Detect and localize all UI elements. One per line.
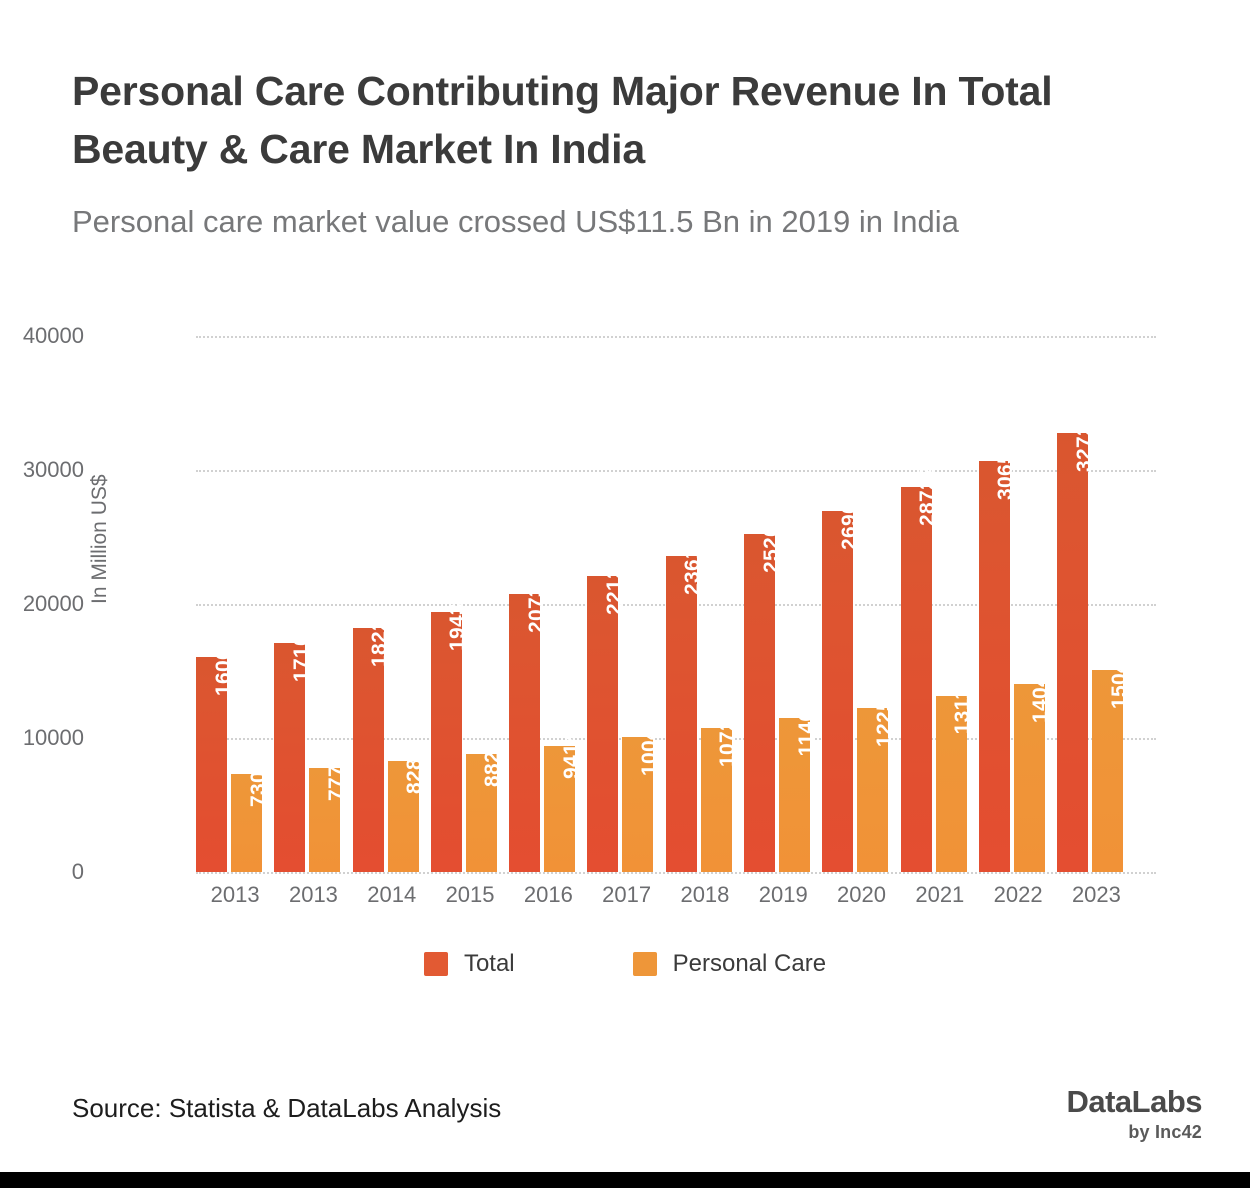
datalabs-logo: DataLabs by Inc42 xyxy=(1066,1086,1202,1141)
bar-chart: 010000200003000040000 In Million US$ 160… xyxy=(0,0,1250,1000)
brand-tagline: by Inc42 xyxy=(1066,1123,1202,1141)
bar-personal[interactable]: 12257 xyxy=(857,708,888,872)
bar-personal[interactable]: 8827 xyxy=(466,754,497,872)
y-axis-title: In Million US$ xyxy=(88,474,112,604)
chart-legend: TotalPersonal Care xyxy=(0,950,1250,978)
bar-value-label: 32728 xyxy=(1073,413,1097,473)
x-axis-tick-label: 2021 xyxy=(901,882,979,908)
bar-total[interactable]: 22127 xyxy=(587,576,618,873)
legend-item-total[interactable]: Total xyxy=(424,950,515,978)
legend-item-personal-care[interactable]: Personal Care xyxy=(633,950,826,978)
bar-value-label: 30659 xyxy=(994,440,1018,500)
bar-group: 207339414 xyxy=(509,336,587,872)
x-axis-tick-label: 2013 xyxy=(196,882,274,908)
bar-group: 2361510724 xyxy=(666,336,744,872)
bottom-accent-bar xyxy=(0,1172,1250,1188)
bar-group: 171027778 xyxy=(274,336,352,872)
y-axis-tick-label: 10000 xyxy=(0,725,84,751)
bar-value-label: 7308 xyxy=(247,759,271,807)
legend-label: Total xyxy=(464,950,515,978)
x-axis-tick-label: 2020 xyxy=(822,882,900,908)
bar-value-label: 10724 xyxy=(716,707,740,767)
brand-name: DataLabs xyxy=(1066,1086,1202,1117)
bar-total[interactable]: 16062 xyxy=(196,657,227,872)
y-axis-tick-label: 0 xyxy=(0,859,84,885)
bar-personal[interactable]: 7308 xyxy=(231,774,262,872)
x-axis-tick-label: 2022 xyxy=(979,882,1057,908)
bar-group: 3065914041 xyxy=(979,336,1057,872)
bar-value-label: 13114 xyxy=(951,676,975,735)
bar-value-label: 26907 xyxy=(838,491,862,551)
bar-total[interactable]: 32728 xyxy=(1057,433,1088,872)
gridline xyxy=(196,872,1156,874)
bar-group: 160627308 xyxy=(196,336,274,872)
bar-value-label: 11463 xyxy=(795,698,819,757)
bar-personal[interactable]: 7778 xyxy=(309,768,340,872)
y-axis-tick-label: 40000 xyxy=(0,323,84,349)
bar-value-label: 22127 xyxy=(603,555,627,615)
bar-value-label: 10046 xyxy=(638,716,662,776)
x-axis-tick-label: 2023 xyxy=(1057,882,1135,908)
bar-total[interactable]: 30659 xyxy=(979,461,1010,872)
bar-personal[interactable]: 15042 xyxy=(1092,670,1123,872)
x-axis-tick-label: 2013 xyxy=(274,882,352,908)
bar-total[interactable]: 17102 xyxy=(274,643,305,872)
bar-value-label: 20733 xyxy=(525,573,549,633)
infographic-page: Personal Care Contributing Major Revenue… xyxy=(0,0,1250,1188)
x-axis-tick-label: 2017 xyxy=(587,882,665,908)
bar-total[interactable]: 23615 xyxy=(666,556,697,872)
x-axis-tick-label: 2014 xyxy=(353,882,431,908)
bar-value-label: 8283 xyxy=(403,746,427,794)
bar-personal[interactable]: 9414 xyxy=(544,746,575,872)
legend-swatch xyxy=(633,952,657,976)
bar-groups: 1606273081710277781822682831943688272073… xyxy=(196,336,1136,872)
bar-group: 2872213114 xyxy=(901,336,979,872)
bar-group: 182268283 xyxy=(353,336,431,872)
bar-total[interactable]: 19436 xyxy=(431,612,462,872)
bar-group: 2520711463 xyxy=(744,336,822,872)
x-axis-tick-label: 2015 xyxy=(431,882,509,908)
bar-personal[interactable]: 14041 xyxy=(1014,684,1045,872)
x-axis-tick-label: 2019 xyxy=(744,882,822,908)
bar-value-label: 12257 xyxy=(873,687,897,747)
bar-value-label: 7778 xyxy=(325,753,349,801)
bar-value-label: 15042 xyxy=(1108,649,1132,709)
bar-personal[interactable]: 13114 xyxy=(936,696,967,872)
bar-value-label: 9414 xyxy=(560,731,584,779)
bar-value-label: 19436 xyxy=(446,591,470,651)
bar-value-label: 16062 xyxy=(212,636,236,696)
bar-total[interactable]: 18226 xyxy=(353,628,384,872)
bar-group: 194368827 xyxy=(431,336,509,872)
y-axis-tick-label: 30000 xyxy=(0,457,84,483)
x-axis-tick-label: 2018 xyxy=(666,882,744,908)
bar-group: 2690712257 xyxy=(822,336,900,872)
y-axis-tick-label: 20000 xyxy=(0,591,84,617)
bar-value-label: 14041 xyxy=(1029,663,1053,723)
x-axis-labels: 2013201320142015201620172018201920202021… xyxy=(196,882,1136,908)
legend-swatch xyxy=(424,952,448,976)
bar-value-label: 17102 xyxy=(290,622,314,682)
bar-total[interactable]: 28722 xyxy=(901,487,932,872)
source-note: Source: Statista & DataLabs Analysis xyxy=(72,1093,501,1124)
x-axis-tick-label: 2016 xyxy=(509,882,587,908)
bar-value-label: 25207 xyxy=(760,513,784,573)
bar-personal[interactable]: 10046 xyxy=(622,737,653,872)
bar-group: 3272815042 xyxy=(1057,336,1135,872)
bar-total[interactable]: 26907 xyxy=(822,511,853,872)
bar-group: 2212710046 xyxy=(587,336,665,872)
bar-value-label: 8827 xyxy=(481,739,505,787)
bar-personal[interactable]: 11463 xyxy=(779,718,810,872)
bar-total[interactable]: 25207 xyxy=(744,534,775,872)
legend-label: Personal Care xyxy=(673,950,826,978)
bar-total[interactable]: 20733 xyxy=(509,594,540,872)
bar-value-label: 23615 xyxy=(681,535,705,595)
bar-personal[interactable]: 8283 xyxy=(388,761,419,872)
bar-personal[interactable]: 10724 xyxy=(701,728,732,872)
bar-value-label: 28722 xyxy=(916,466,940,526)
bar-value-label: 18226 xyxy=(368,607,392,667)
